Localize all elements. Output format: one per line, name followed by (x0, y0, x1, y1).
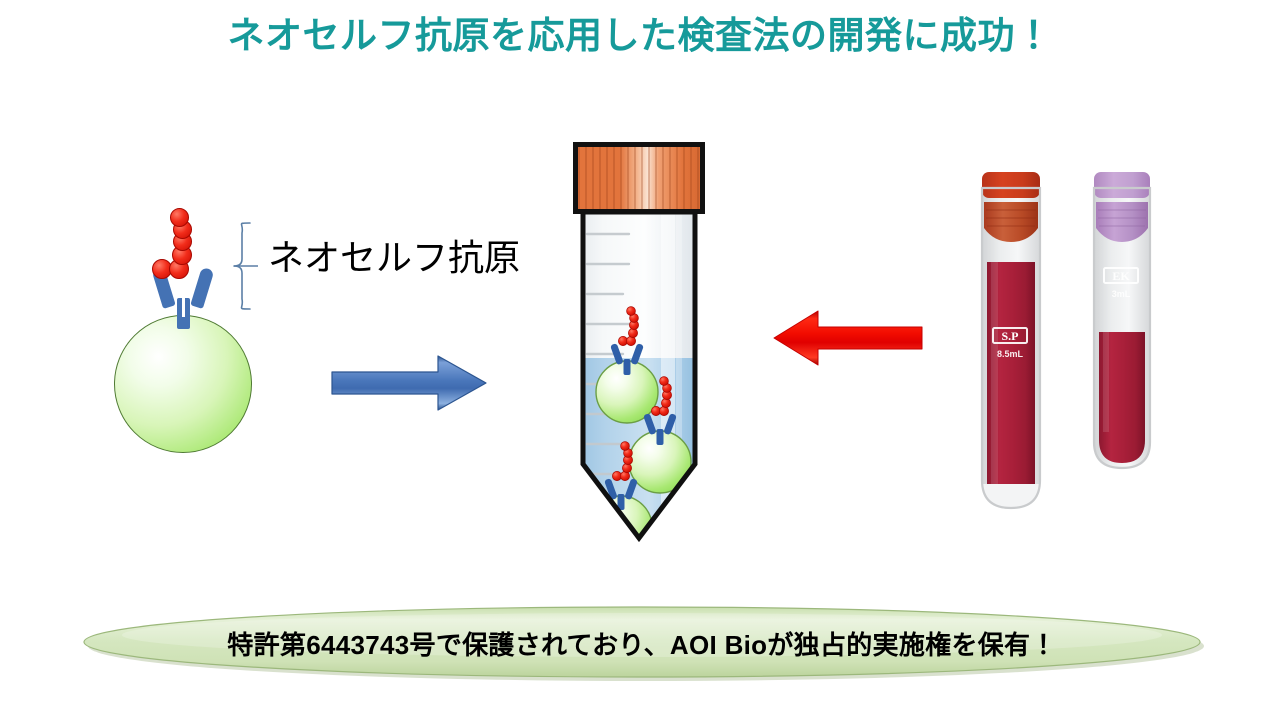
serum-separator-tube: S.P 8.5mL (982, 172, 1040, 508)
tube-body (579, 212, 699, 542)
centrifuge-tube (565, 142, 715, 542)
page-title: ネオセルフ抗原を応用した検査法の開発に成功！ (0, 14, 1280, 58)
edta-k-tube: EK 3mL (1094, 172, 1150, 468)
neoself-antigen-label: ネオセルフ抗原 (268, 240, 520, 276)
antigen-peptide-chain-icon (152, 215, 212, 285)
tube-cap (573, 142, 705, 214)
antibody-notch-icon (182, 297, 185, 317)
patent-banner: 特許第6443743号で保護されており、AOI Bioが独占的実施権を保有！ (78, 604, 1206, 682)
antigen-bead-icon (170, 208, 189, 227)
sp-tube-label: S.P (1001, 329, 1018, 343)
slide-canvas: ネオセルフ抗原を応用した検査法の開発に成功！ ネオセルフ抗原 (0, 0, 1280, 720)
ek-tube-volume: 3mL (1112, 289, 1131, 299)
blue-right-arrow-icon (330, 352, 490, 414)
ek-tube-label: EK (1112, 269, 1130, 283)
microbead-sphere (114, 315, 252, 453)
blood-collection-tubes: S.P 8.5mL EK (958, 150, 1178, 535)
sp-tube-volume: 8.5mL (997, 349, 1024, 359)
red-left-arrow-icon (772, 308, 924, 368)
antigen-bracket-icon (228, 221, 258, 311)
patent-banner-text: 特許第6443743号で保護されており、AOI Bioが独占的実施権を保有！ (78, 604, 1206, 682)
